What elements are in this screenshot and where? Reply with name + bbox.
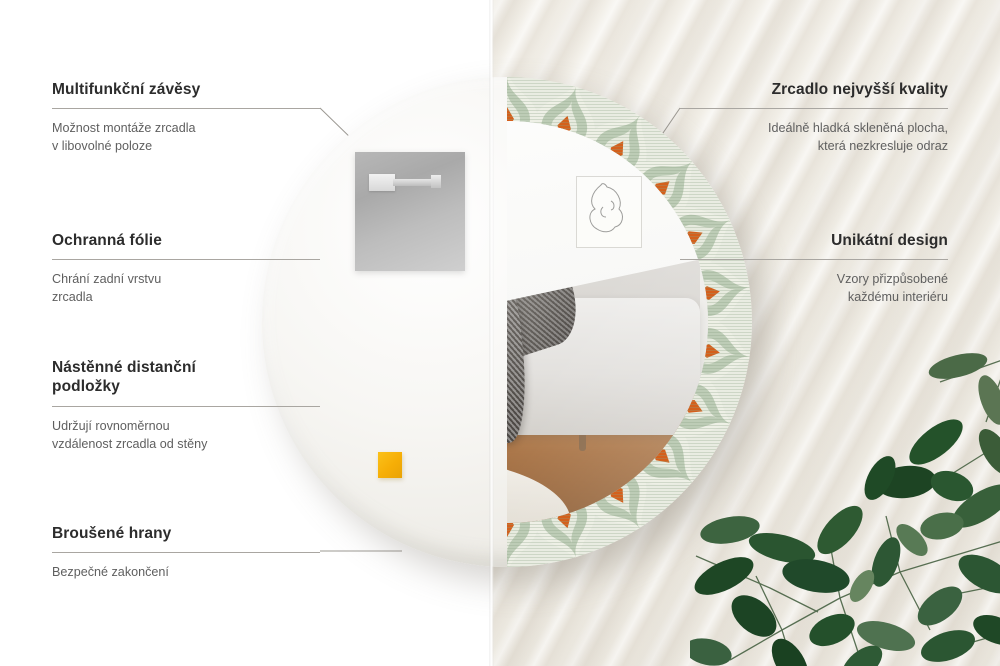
line-sketch-icon	[577, 177, 641, 247]
callout-title: Nástěnné distanční podložky	[52, 358, 320, 397]
callout-unikatni-design: Unikátní design Vzory přizpůsobené každé…	[680, 231, 948, 307]
callout-rule	[680, 259, 948, 260]
wall-spacer-pad	[378, 452, 402, 478]
callout-title: Broušené hrany	[52, 524, 320, 543]
reflection-artwork-frame	[576, 176, 642, 248]
callout-title: Ochranná fólie	[52, 231, 320, 250]
callout-title: Multifunkční závěsy	[52, 80, 320, 99]
mirror-product	[262, 77, 752, 567]
callout-rule	[52, 108, 320, 109]
callout-description: Vzory přizpůsobené každému interiéru	[680, 271, 948, 307]
callout-description: Chrání zadní vrstvu zrcadla	[52, 271, 320, 307]
plant-branch-decoration	[690, 330, 1000, 666]
callout-rule	[52, 259, 320, 260]
plant-leaves	[690, 348, 1000, 666]
callout-nastenne-distancni-podlozky: Nástěnné distanční podložky Udržují rovn…	[52, 358, 320, 454]
mirror-hanger-bracket	[355, 152, 465, 271]
callout-brousene-hrany: Broušené hrany Bezpečné zakončení	[52, 524, 320, 582]
callout-description: Udržují rovnoměrnou vzdálenost zrcadla o…	[52, 418, 320, 454]
callout-zrcadlo-nejvyssi-kvality: Zrcadlo nejvyšší kvality Ideálně hladká …	[680, 80, 948, 156]
hanger-bracket-detail	[369, 174, 441, 191]
callout-title: Zrcadlo nejvyšší kvality	[680, 80, 948, 99]
callout-rule	[52, 406, 320, 407]
callout-multifunkcni-zavesy: Multifunkční závěsy Možnost montáže zrca…	[52, 80, 320, 156]
hanger-tip	[431, 175, 441, 188]
callout-ochranna-folie: Ochranná fólie Chrání zadní vrstvu zrcad…	[52, 231, 320, 307]
feature-diagram-canvas: Multifunkční závěsy Možnost montáže zrca…	[0, 0, 1000, 666]
callout-rule	[52, 552, 320, 553]
hanger-plate	[369, 174, 395, 191]
callout-description: Bezpečné zakončení	[52, 564, 320, 582]
callout-title: Unikátní design	[680, 231, 948, 250]
callout-description: Ideálně hladká skleněná plocha, která ne…	[680, 120, 948, 156]
callout-description: Možnost montáže zrcadla v libovolné polo…	[52, 120, 320, 156]
panel-divider	[489, 0, 494, 666]
callout-rule	[680, 108, 948, 109]
